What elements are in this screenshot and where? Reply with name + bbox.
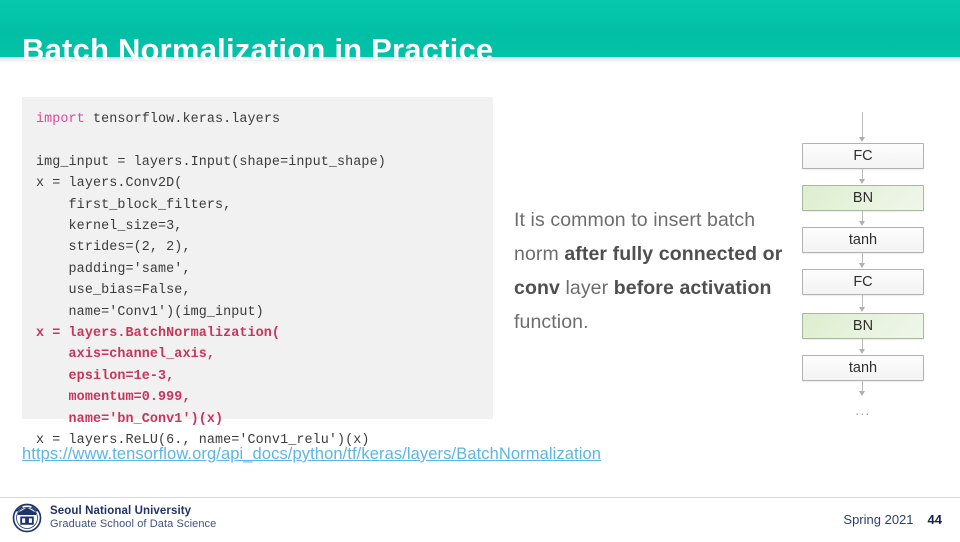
code-line: name='Conv1')(img_input): [36, 305, 264, 320]
code-token: momentum=0.999,: [36, 390, 191, 405]
footer-meta: Spring 2021 44: [843, 512, 942, 527]
code-token: name='bn_Conv1')(x): [36, 412, 223, 427]
code-line: x = layers.BatchNormalization(: [36, 326, 280, 341]
page-title: Batch Normalization in Practice: [22, 30, 493, 70]
flow-box-label: tanh: [849, 360, 877, 376]
code-token: padding='same',: [36, 262, 191, 277]
flow-box-fc-0: FC: [802, 143, 924, 169]
code-line: momentum=0.999,: [36, 390, 191, 405]
flow-arrow-icon: [859, 221, 865, 226]
code-token: strides=(2, 2),: [36, 240, 191, 255]
flow-box-tanh-2: tanh: [802, 227, 924, 253]
code-listing: import tensorflow.keras.layers img_input…: [36, 109, 493, 452]
code-line: axis=channel_axis,: [36, 347, 215, 362]
body-text-run: function.: [514, 311, 589, 333]
flow-arrow-icon: [859, 391, 865, 396]
term-label: Spring 2021: [843, 512, 913, 527]
code-line: first_block_filters,: [36, 198, 231, 213]
flow-arrow-icon: [859, 137, 865, 142]
flow-arrow-icon: [859, 349, 865, 354]
brand-text: Seoul National University Graduate Schoo…: [50, 504, 216, 532]
code-line: kernel_size=3,: [36, 219, 182, 234]
code-token: import: [36, 112, 85, 127]
code-line: name='bn_Conv1')(x): [36, 412, 223, 427]
body-text-run: layer: [560, 277, 614, 299]
page-number: 44: [928, 512, 942, 527]
code-token: epsilon=1e-3,: [36, 369, 174, 384]
emphasis-text: before activation: [614, 277, 772, 299]
flow-arrow-icon: [859, 307, 865, 312]
school-name: Graduate School of Data Science: [50, 518, 216, 532]
flow-box-fc-3: FC: [802, 269, 924, 295]
flow-box-bn-1: BN: [802, 185, 924, 211]
flow-box-label: BN: [853, 318, 873, 334]
code-line: img_input = layers.Input(shape=input_sha…: [36, 155, 386, 170]
code-token: x = layers.Conv2D(: [36, 176, 182, 191]
flow-arrow-icon: [859, 179, 865, 184]
flow-box-bn-4: BN: [802, 313, 924, 339]
network-flow-diagram: ... FCBNtanhFCBNtanh: [798, 112, 938, 412]
code-token: use_bias=False,: [36, 283, 191, 298]
footer-divider: [0, 497, 960, 498]
code-line: import tensorflow.keras.layers: [36, 112, 280, 127]
code-token: name='Conv1')(img_input): [36, 305, 264, 320]
code-token: img_input = layers.Input(shape=input_sha…: [36, 155, 386, 170]
code-line: strides=(2, 2),: [36, 240, 191, 255]
footer-brand: Seoul National University Graduate Schoo…: [12, 503, 216, 533]
code-token: tensorflow.keras.layers: [85, 112, 280, 127]
source-link[interactable]: https://www.tensorflow.org/api_docs/pyth…: [22, 445, 601, 464]
code-token: axis=channel_axis,: [36, 347, 215, 362]
explanation-paragraph: It is common to insert batch norm after …: [514, 203, 786, 339]
code-line: epsilon=1e-3,: [36, 369, 174, 384]
flow-box-label: BN: [853, 190, 873, 206]
flow-box-tanh-5: tanh: [802, 355, 924, 381]
code-token: x = layers.BatchNormalization(: [36, 326, 280, 341]
university-name: Seoul National University: [50, 504, 216, 518]
flow-box-label: tanh: [849, 232, 877, 248]
code-token: kernel_size=3,: [36, 219, 182, 234]
code-line: x = layers.Conv2D(: [36, 176, 182, 191]
code-token: first_block_filters,: [36, 198, 231, 213]
flow-box-label: FC: [853, 148, 872, 164]
flow-box-label: FC: [853, 274, 872, 290]
code-block: import tensorflow.keras.layers img_input…: [22, 97, 493, 419]
flow-arrow-icon: [859, 263, 865, 268]
code-line: padding='same',: [36, 262, 191, 277]
flow-ellipsis: ...: [798, 403, 928, 418]
snu-logo-icon: [12, 503, 42, 533]
flow-connector: [862, 112, 863, 138]
code-line: use_bias=False,: [36, 283, 191, 298]
